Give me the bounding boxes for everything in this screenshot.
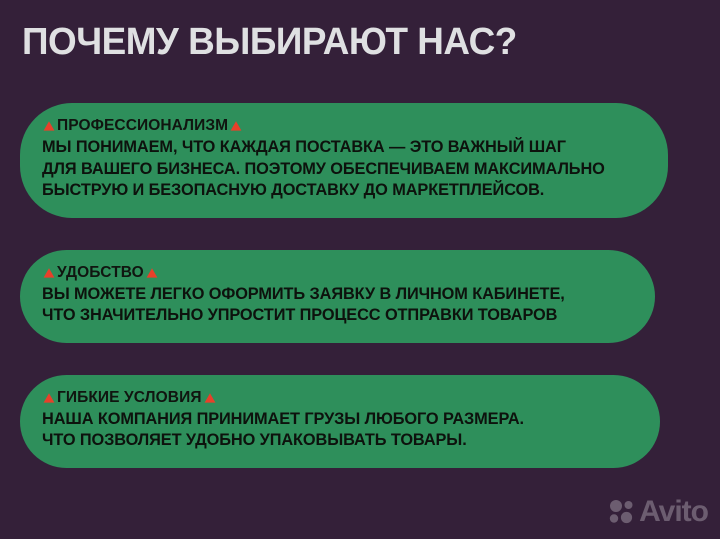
avito-watermark: Avito (608, 497, 708, 527)
benefit-card-line: ЧТО ЗНАЧИТЕЛЬНО УПРОСТИТ ПРОЦЕСС ОТПРАВК… (42, 305, 623, 327)
avito-wordmark: Avito (639, 497, 708, 527)
benefit-card-heading-text: ПРОФЕССИОНАЛИЗМ (57, 116, 228, 136)
benefit-card-line: ДЛЯ ВАШЕГО БИЗНЕСА. ПОЭТОМУ ОБЕСПЕЧИВАЕМ… (42, 159, 636, 181)
page-title: ПОЧЕМУ ВЫБИРАЮТ НАС? (22, 20, 517, 64)
red-triangle-icon (42, 391, 56, 405)
red-triangle-icon (42, 266, 56, 280)
benefit-card-heading: ГИБКИЕ УСЛОВИЯ (42, 388, 634, 408)
benefit-card-list: ПРОФЕССИОНАЛИЗМ МЫ ПОНИМАЕМ, ЧТО КАЖДАЯ … (20, 103, 680, 500)
avito-dots-icon (608, 499, 634, 525)
poster-canvas: ПОЧЕМУ ВЫБИРАЮТ НАС? ПРОФЕССИОНАЛИЗМ МЫ … (0, 0, 720, 539)
benefit-card-line: НАША КОМПАНИЯ ПРИНИМАЕТ ГРУЗЫ ЛЮБОГО РАЗ… (42, 409, 628, 431)
benefit-card-heading: УДОБСТВО (42, 263, 629, 283)
benefit-card-line: ЧТО ПОЗВОЛЯЕТ УДОБНО УПАКОВЫВАТЬ ТОВАРЫ. (42, 430, 628, 452)
benefit-card: ГИБКИЕ УСЛОВИЯ НАША КОМПАНИЯ ПРИНИМАЕТ Г… (20, 375, 660, 468)
benefit-card-line: БЫСТРУЮ И БЕЗОПАСНУЮ ДОСТАВКУ ДО МАРКЕТП… (42, 180, 636, 202)
benefit-card-heading: ПРОФЕССИОНАЛИЗМ (42, 116, 642, 136)
red-triangle-icon (229, 119, 243, 133)
red-triangle-icon (203, 391, 217, 405)
benefit-card-heading-text: ГИБКИЕ УСЛОВИЯ (57, 388, 202, 408)
benefit-card: УДОБСТВО ВЫ МОЖЕТЕ ЛЕГКО ОФОРМИТЬ ЗАЯВКУ… (20, 250, 655, 343)
benefit-card-line: ВЫ МОЖЕТЕ ЛЕГКО ОФОРМИТЬ ЗАЯВКУ В ЛИЧНОМ… (42, 284, 623, 306)
red-triangle-icon (145, 266, 159, 280)
benefit-card-body: НАША КОМПАНИЯ ПРИНИМАЕТ ГРУЗЫ ЛЮБОГО РАЗ… (42, 409, 634, 452)
benefit-card-heading-text: УДОБСТВО (57, 263, 144, 283)
benefit-card-body: ВЫ МОЖЕТЕ ЛЕГКО ОФОРМИТЬ ЗАЯВКУ В ЛИЧНОМ… (42, 284, 629, 327)
red-triangle-icon (42, 119, 56, 133)
benefit-card: ПРОФЕССИОНАЛИЗМ МЫ ПОНИМАЕМ, ЧТО КАЖДАЯ … (20, 103, 668, 218)
benefit-card-line: МЫ ПОНИМАЕМ, ЧТО КАЖДАЯ ПОСТАВКА — ЭТО В… (42, 137, 636, 159)
benefit-card-body: МЫ ПОНИМАЕМ, ЧТО КАЖДАЯ ПОСТАВКА — ЭТО В… (42, 137, 642, 202)
